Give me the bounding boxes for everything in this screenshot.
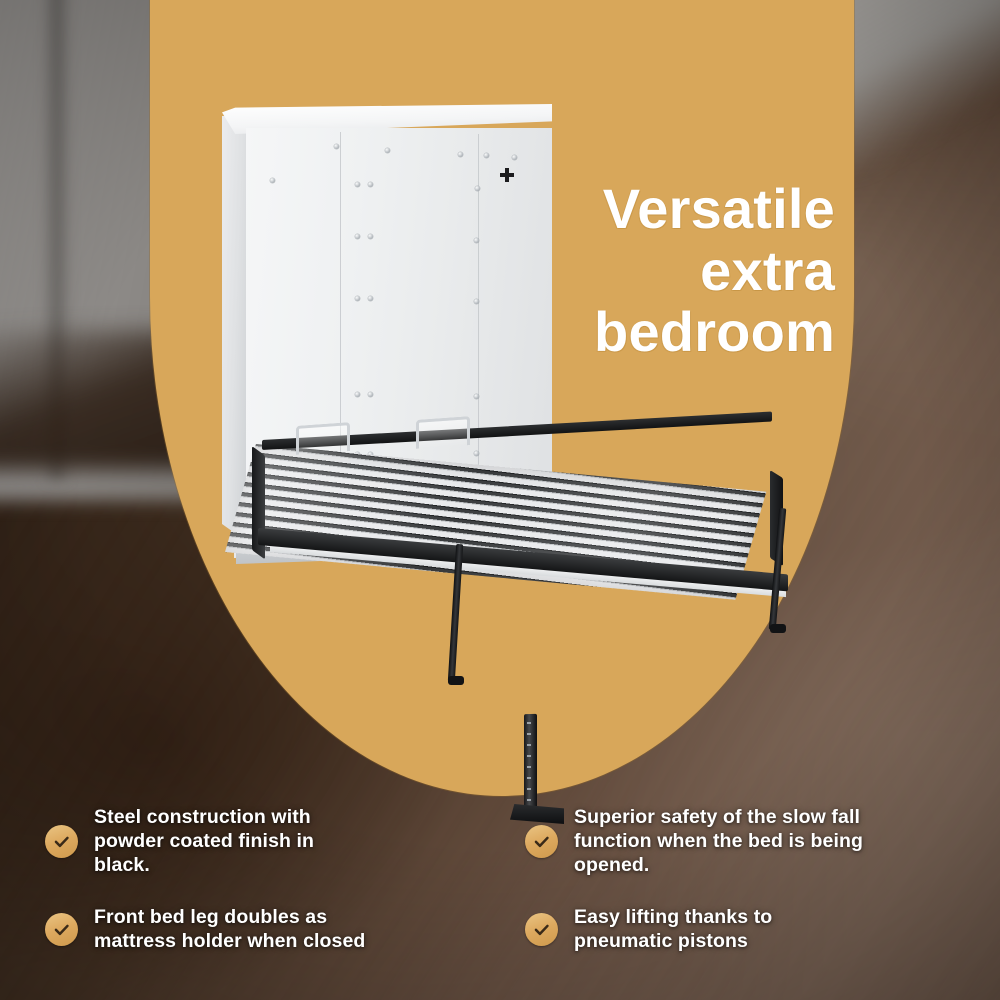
headline-line-3: bedroom [430,301,835,363]
feature-text: Steel construction with powder coated fi… [94,805,375,878]
screw-hole [334,144,339,149]
piston-rivets [527,722,531,806]
bed-foot-front [448,676,464,685]
mattress-holder-bracket [296,422,350,455]
screw-hole [368,234,373,239]
screw-hole [458,152,463,157]
check-circle-icon [45,825,78,858]
screw-hole [355,392,360,397]
screw-hole [474,394,479,399]
feature-item: Easy lifting thanks to pneumatic pistons [525,905,865,953]
feature-text: Superior safety of the slow fall functio… [574,805,865,878]
screw-hole [368,182,373,187]
screw-hole [368,392,373,397]
check-circle-icon [525,913,558,946]
feature-column-right: Superior safety of the slow fall functio… [500,800,1000,1000]
bed-foot-right [770,624,786,633]
feature-item: Steel construction with powder coated fi… [45,805,375,878]
feature-item: Front bed leg doubles as mattress holder… [45,905,375,953]
screw-hole [484,153,489,158]
mattress-holder-bracket [416,416,470,449]
feature-text: Easy lifting thanks to pneumatic pistons [574,905,865,953]
screw-hole [512,155,517,160]
feature-column-left: Steel construction with powder coated fi… [0,800,500,1000]
bed-slat-platform [218,432,818,612]
screw-hole [355,234,360,239]
headline-line-1: Versatile [430,178,835,240]
promo-banner: Versatile extra bedroom Steel constructi… [0,0,1000,1000]
feature-text: Front bed leg doubles as mattress holder… [94,905,375,953]
screw-hole [385,148,390,153]
screw-hole [355,182,360,187]
headline-line-2: extra [430,240,835,302]
feature-item: Superior safety of the slow fall functio… [525,805,865,878]
screw-hole [270,178,275,183]
check-circle-icon [525,825,558,858]
screw-hole [355,296,360,301]
screw-hole [368,296,373,301]
feature-list: Steel construction with powder coated fi… [0,800,1000,1000]
page-title: Versatile extra bedroom [430,178,835,363]
check-circle-icon [45,913,78,946]
